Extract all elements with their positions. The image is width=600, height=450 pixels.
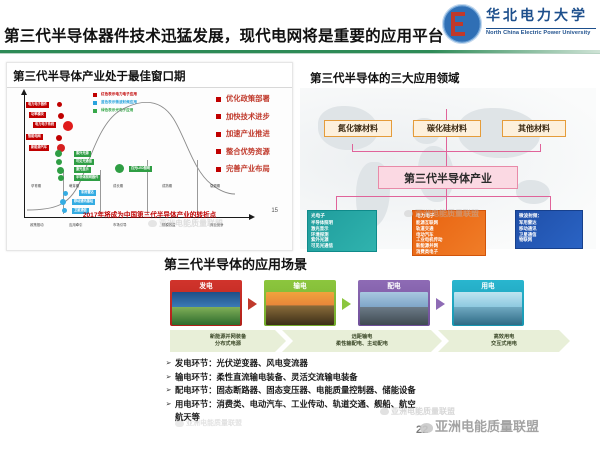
upper-phase-1: 孕育期 bbox=[31, 183, 41, 188]
university-emblem-icon bbox=[442, 4, 482, 44]
power-flow-diagram: 发电 输电 配电 用电 bbox=[170, 280, 582, 328]
chart-tag-red-2: 功率模块 bbox=[29, 112, 46, 118]
chevron-line-2: 柔性输配电、主动配电 bbox=[336, 341, 388, 348]
arrow-bullet-icon: ➢ bbox=[162, 399, 175, 410]
material-box-other[interactable]: 其他材料 bbox=[502, 120, 566, 137]
chart-dot-red-2 bbox=[58, 113, 64, 119]
upper-phase-4: 成熟期 bbox=[162, 183, 172, 188]
continent-shape bbox=[516, 180, 550, 204]
scenario-bullet-4: ➢ 用电环节：消费类、电动汽车、工业传动、轨道交通、舰船、航空 bbox=[162, 399, 592, 410]
chart-dot-green-2 bbox=[56, 159, 62, 165]
left-panel-page-marker: 15 bbox=[271, 208, 278, 214]
watermark-text: 亚洲电能质量联盟 bbox=[391, 407, 455, 416]
chevron-line-1: 远距输电 bbox=[352, 334, 373, 341]
flow-image-generation bbox=[172, 292, 240, 325]
flow-arrow-3-icon bbox=[436, 298, 445, 310]
chevron-line-1: 新能源并网装备 bbox=[210, 334, 246, 341]
scenario-bullet-text-3: 配电环节：固态断路器、固态变压器、电能质量控制器、储能设备 bbox=[175, 385, 416, 396]
header-accent-rule-secondary bbox=[0, 53, 600, 54]
flow-box-generation[interactable]: 发电 bbox=[170, 280, 242, 326]
arrow-bullet-icon: ➢ bbox=[162, 358, 175, 369]
lower-phase-3: 市场引导 bbox=[113, 222, 127, 227]
phase-sep-4 bbox=[197, 160, 198, 214]
university-name-en: North China Electric Power University bbox=[486, 30, 590, 36]
chart-dot-red-4 bbox=[56, 135, 62, 141]
scenario-bullet-text-1: 发电环节：光伏逆变器、风电变流器 bbox=[175, 358, 308, 369]
scenario-bullet-text-2: 输电环节：柔性直流输电装备、灵活交流输电装备 bbox=[175, 372, 358, 383]
application-head-optoelectronics: 光电子 bbox=[311, 213, 373, 219]
chevron-line-2: 分布式电源 bbox=[215, 341, 241, 348]
university-name-cn: 华北电力大学 bbox=[486, 5, 588, 25]
arrow-bullet-icon: ➢ bbox=[162, 372, 175, 383]
flow-label-transmission: 输电 bbox=[266, 282, 334, 291]
scenario-bullet-3: ➢ 配电环节：固态断路器、固态变压器、电能质量控制器、储能设备 bbox=[162, 385, 592, 396]
chevron-generation: 新能源并网装备 分布式电源 bbox=[170, 330, 286, 352]
scenario-bullet-list: ➢ 发电环节：光伏逆变器、风电变流器 ➢ 输电环节：柔性直流输电装备、灵活交流输… bbox=[162, 358, 592, 423]
application-box-optoelectronics[interactable]: 光电子 半导体照明 激光显示 环境探测 紫外光源 可见光通信 bbox=[307, 210, 377, 252]
watermark-logo-icon bbox=[175, 420, 184, 427]
core-industry-box[interactable]: 第三代半导体产业 bbox=[378, 166, 518, 189]
upper-phase-3: 成长期 bbox=[113, 183, 123, 188]
flow-image-distribution bbox=[360, 292, 428, 325]
upper-phase-2: 萌芽期 bbox=[69, 183, 79, 188]
upper-phase-5: 衰退期 bbox=[210, 183, 220, 188]
chart-tag-red-4: 智能电网 bbox=[26, 134, 43, 140]
right-application-panel: 第三代半导体的三大应用领域 氮化镓材料 碳化硅材料 其他材料 第三代半导体产业 bbox=[300, 62, 596, 249]
watermark-text: 亚洲电能质量联盟 bbox=[435, 419, 539, 434]
chart-tag-green-4: 半导体照明器件 bbox=[74, 175, 100, 181]
flow-label-distribution: 配电 bbox=[360, 282, 428, 291]
watermark-right: 亚洲电能质量联盟 bbox=[404, 208, 479, 219]
chart-dot-red-3 bbox=[63, 121, 73, 131]
chart-tag-blue-2: 移动通讯基站 bbox=[72, 199, 95, 205]
watermark-logo-icon bbox=[420, 423, 433, 433]
chart-tag-green-3: 激光显示 bbox=[74, 167, 91, 173]
chevron-transmission: 远距输电 柔性输配电、主动配电 bbox=[282, 330, 442, 352]
chart-tag-red-1: 电力电子器件 bbox=[26, 102, 49, 108]
connector-horizontal-top bbox=[352, 151, 541, 152]
arrow-bullet-icon: ➢ bbox=[162, 385, 175, 396]
flow-image-transmission bbox=[266, 292, 334, 325]
chart-tag-red-3: 电力电子系统 bbox=[33, 122, 56, 128]
watermark-bottom-right: 亚洲电能质量联盟 bbox=[420, 416, 539, 435]
chart-dot-green-4 bbox=[58, 175, 64, 181]
chart-tag-red-5: 新能源汽车 bbox=[29, 145, 49, 151]
watermark-text: 亚洲电能质量联盟 bbox=[159, 219, 223, 228]
watermark-bottom-left: 亚洲电能质量联盟 bbox=[175, 418, 242, 428]
connector-down-right bbox=[550, 196, 551, 210]
scenario-bullet-1: ➢ 发电环节：光伏逆变器、风电变流器 bbox=[162, 358, 592, 369]
chart-dot-green-3 bbox=[57, 167, 64, 174]
world-map-background: 氮化镓材料 碳化硅材料 其他材料 第三代半导体产业 光电子 半导体照明 激光显示… bbox=[300, 88, 596, 249]
flow-box-transmission[interactable]: 输电 bbox=[264, 280, 336, 326]
application-item: 可见光通信 bbox=[311, 243, 373, 249]
flow-label-generation: 发电 bbox=[172, 282, 240, 291]
university-logo: 华北电力大学 North China Electric Power Univer… bbox=[442, 2, 598, 48]
chart-tag-green-right: 白光LED照明 bbox=[129, 166, 152, 172]
chevron-line-1: 高效用电 bbox=[494, 334, 515, 341]
page-title: 第三代半导体器件技术迅猛发展，现代电网将是重要的应用平台 bbox=[4, 24, 444, 46]
watermark-text: 亚洲电能质量联盟 bbox=[415, 209, 479, 218]
flow-box-consumption[interactable]: 用电 bbox=[452, 280, 524, 326]
connector-horizontal-bottom bbox=[336, 196, 551, 197]
connector-down-left bbox=[336, 196, 337, 210]
watermark-logo-icon bbox=[404, 210, 413, 217]
chart-dot-green-5 bbox=[115, 164, 124, 173]
chevron-consumption: 高效用电 交互式用电 bbox=[438, 330, 570, 352]
chart-dot-blue-1 bbox=[63, 191, 68, 196]
chart-tag-green-1: 紫外光源 bbox=[74, 151, 91, 157]
chart-tag-blue-1: 军用雷达 bbox=[79, 190, 96, 196]
watermark-text: 亚洲电能质量联盟 bbox=[186, 420, 242, 427]
watermark-logo-icon bbox=[380, 408, 389, 415]
application-head-rf: 微波射频： bbox=[519, 213, 579, 219]
chart-dot-blue-2 bbox=[60, 199, 66, 205]
flow-box-distribution[interactable]: 配电 bbox=[358, 280, 430, 326]
flow-image-consumption bbox=[454, 292, 522, 325]
flow-arrow-1-icon bbox=[248, 298, 257, 310]
scenario-bullet-2: ➢ 输电环节：柔性直流输电装备、灵活交流输电装备 bbox=[162, 372, 592, 383]
slide-root: 第三代半导体器件技术迅猛发展，现代电网将是重要的应用平台 华北电力大学 Nort… bbox=[0, 0, 600, 450]
flow-arrow-2-icon bbox=[342, 298, 351, 310]
application-item: 物联网 bbox=[519, 237, 579, 243]
lower-phase-2: 应用牵引 bbox=[69, 222, 83, 227]
watermark-left: 亚洲电能质量联盟 bbox=[148, 218, 223, 229]
logo-divider bbox=[486, 28, 596, 29]
chart-dot-red-1 bbox=[57, 102, 62, 107]
chevron-band: 新能源并网装备 分布式电源 远距输电 柔性输配电、主动配电 高效用电 交互式用电 bbox=[170, 330, 582, 352]
application-box-rf[interactable]: 微波射频： 军用雷达 移动通讯 卫星通信 物联网 bbox=[515, 210, 583, 249]
chart-dot-green-1 bbox=[55, 150, 62, 157]
chart-tag-green-2: 可见光通信 bbox=[74, 159, 94, 165]
material-box-sic[interactable]: 碳化硅材料 bbox=[413, 120, 481, 137]
lower-phase-1: 政策推动 bbox=[30, 222, 44, 227]
right-panel-title: 第三代半导体的三大应用领域 bbox=[310, 70, 460, 86]
slide-header: 第三代半导体器件技术迅猛发展，现代电网将是重要的应用平台 华北电力大学 Nort… bbox=[0, 0, 600, 52]
left-panel-title: 第三代半导体产业处于最佳窗口期 bbox=[13, 68, 186, 84]
connector-vertical-center bbox=[446, 109, 447, 166]
flow-label-consumption: 用电 bbox=[454, 282, 522, 291]
material-box-gan[interactable]: 氮化镓材料 bbox=[324, 120, 392, 137]
bottom-panel-title: 第三代半导体的应用场景 bbox=[164, 254, 307, 273]
chevron-line-2: 交互式用电 bbox=[491, 341, 517, 348]
watermark-logo-icon bbox=[148, 220, 157, 227]
